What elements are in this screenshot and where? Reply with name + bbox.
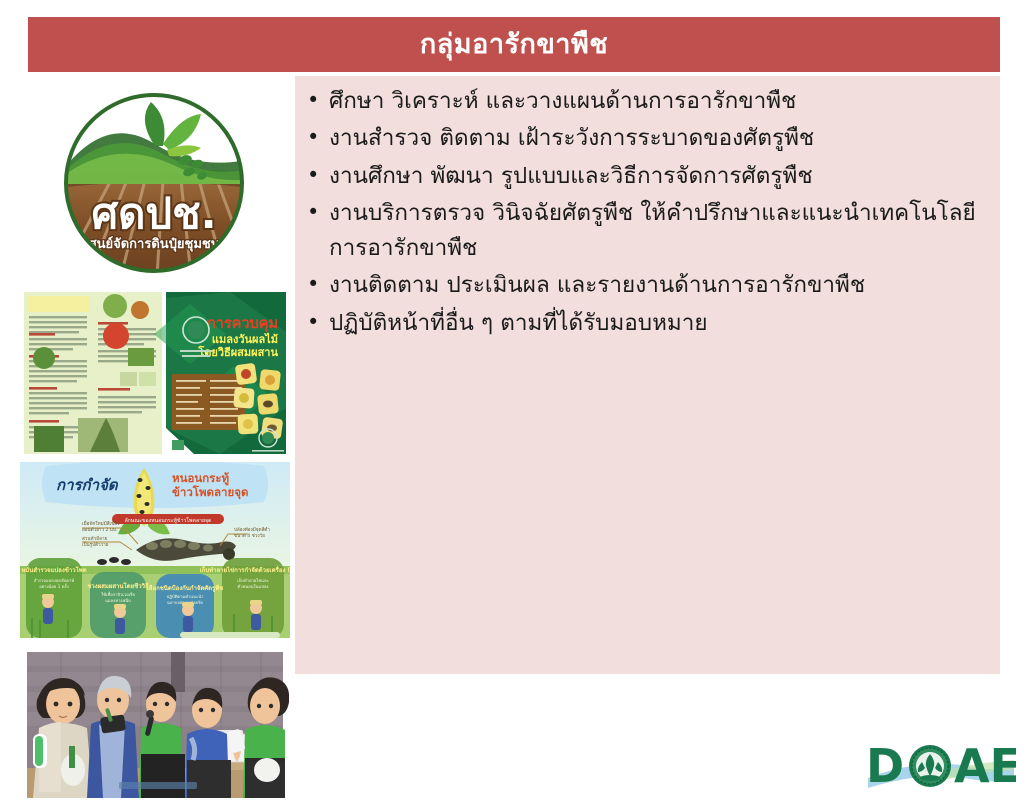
poster-step-4: เก็บทำลายไข่การกำจัดด้วยเครื่อง (กรอง): [200, 565, 290, 574]
doae-seal: [909, 745, 951, 787]
svg-text:ตัวหนอนในแปลง: ตัวหนอนในแปลง: [238, 583, 269, 589]
content-panel: ศึกษา วิเคราะห์ และวางแผนด้านการอารักขาพ…: [295, 76, 1000, 674]
sdpch-logo-graphic: ศดปช. ศูนย์จัดการดินปุ๋ยชุมชน: [59, 88, 249, 278]
list-item: งานศึกษา พัฒนา รูปแบบและวิธีการจัดการศัต…: [295, 159, 1000, 193]
poster-step-3: เลือกชนิดป้องกันกำจัดศัตรูพืช: [147, 584, 223, 593]
farmer-training-photo: [21, 650, 289, 802]
sdpch-logo: ศดปช. ศูนย์จัดการดินปุ๋ยชุมชน: [59, 88, 249, 278]
svg-text:ปล้องท้องมีจุดสีดำ: ปล้องท้องมีจุดสีดำ: [234, 526, 270, 533]
svg-text:อย่างน้อย 1 ครั้ง: อย่างน้อย 1 ครั้ง: [39, 583, 69, 589]
fruit-fly-brochure: การควบคุม แมลงวันผลไม้ โดยวิธีผสมผสาน: [20, 288, 290, 458]
brochure-title: การควบคุม: [207, 316, 278, 332]
doae-letters-ae: AE: [954, 739, 1016, 793]
list-item: ปฏิบัติหน้าที่อื่น ๆ ตามที่ได้รับมอบหมาย: [295, 306, 1000, 340]
fall-armyworm-poster: การกำจัด หนอนกระทู้ ข้าวโพดลายจุด ลักษณะ…: [20, 462, 290, 644]
fall-armyworm-poster-graphic: การกำจัด หนอนกระทู้ ข้าวโพดลายจุด ลักษณะ…: [20, 462, 290, 644]
svg-text:เมื่อฟักใหม่มีสีเขียว: เมื่อฟักใหม่มีสีเขียว: [82, 520, 120, 527]
list-item: งานบริการตรวจ วินิจฉัยศัตรูพืช ให้คำปรึก…: [295, 196, 1000, 265]
poster-step-2: ช่วงผสมผสานโดยชีววิธี: [87, 582, 149, 590]
bullet-list: ศึกษา วิเคราะห์ และวางแผนด้านการอารักขาพ…: [295, 84, 1000, 343]
doae-logo-graphic: D AE: [866, 736, 1016, 798]
sdpch-acronym: ศดปช.: [91, 189, 216, 238]
page-title: กลุ่มอารักขาพืช: [420, 31, 608, 58]
list-item: งานติดตาม ประเมินผล และรายงานด้านการอารั…: [295, 268, 1000, 302]
doae-logo: D AE: [866, 736, 1016, 798]
poster-step-1: หมั่นสำรวจแปลงข้าวโพด: [21, 565, 86, 574]
header-bar: กลุ่มอารักขาพืช: [28, 17, 1000, 72]
fruit-fly-brochure-graphic: การควบคุม แมลงวันผลไม้ โดยวิธีผสมผสาน: [20, 288, 290, 458]
svg-text:ปฏิบัติตามคำแนะนำ: ปฏิบัติตามคำแนะนำ: [167, 594, 204, 599]
poster-subtitle-1: หนอนกระทู้: [172, 471, 230, 486]
poster-title: การกำจัด: [56, 476, 119, 494]
brochure-subtitle-1: แมลงวันผลไม้: [212, 332, 278, 346]
svg-text:ใช้เชื้อราบิวเวอเรีย: ใช้เชื้อราบิวเวอเรีย: [101, 591, 135, 597]
slide-root: กลุ่มอารักขาพืช ศึกษา วิเคราะห์ และวางแผ…: [0, 0, 1024, 806]
farmer-training-graphic: [21, 650, 289, 802]
svg-text:อ่อนตัวยาว 2 มม.: อ่อนตัวยาว 2 มม.: [82, 526, 117, 533]
list-item: ศึกษา วิเคราะห์ และวางแผนด้านการอารักขาพ…: [295, 84, 1000, 118]
poster-banner: ลักษณะของหนอนกระทู้ข้าวโพดลายจุด: [125, 517, 212, 524]
svg-text:ส่วนหัวมีลาย: ส่วนหัวมีลาย: [82, 535, 108, 542]
poster-subtitle-2: ข้าวโพดลายจุด: [172, 484, 248, 500]
svg-text:เก็บทำลายไข่และ: เก็บทำลายไข่และ: [237, 577, 269, 583]
doae-letter-d: D: [866, 739, 904, 793]
svg-text:ขนาด 4 ช่วงวัย: ขนาด 4 ช่วงวัย: [234, 532, 265, 539]
svg-text:แมลงหางหนีบ: แมลงหางหนีบ: [105, 598, 131, 603]
sdpch-caption: ศูนย์จัดการดินปุ๋ยชุมชน: [88, 236, 219, 252]
list-item: งานสำรวจ ติดตาม เฝ้าระวังการระบาดของศัตร…: [295, 121, 1000, 155]
